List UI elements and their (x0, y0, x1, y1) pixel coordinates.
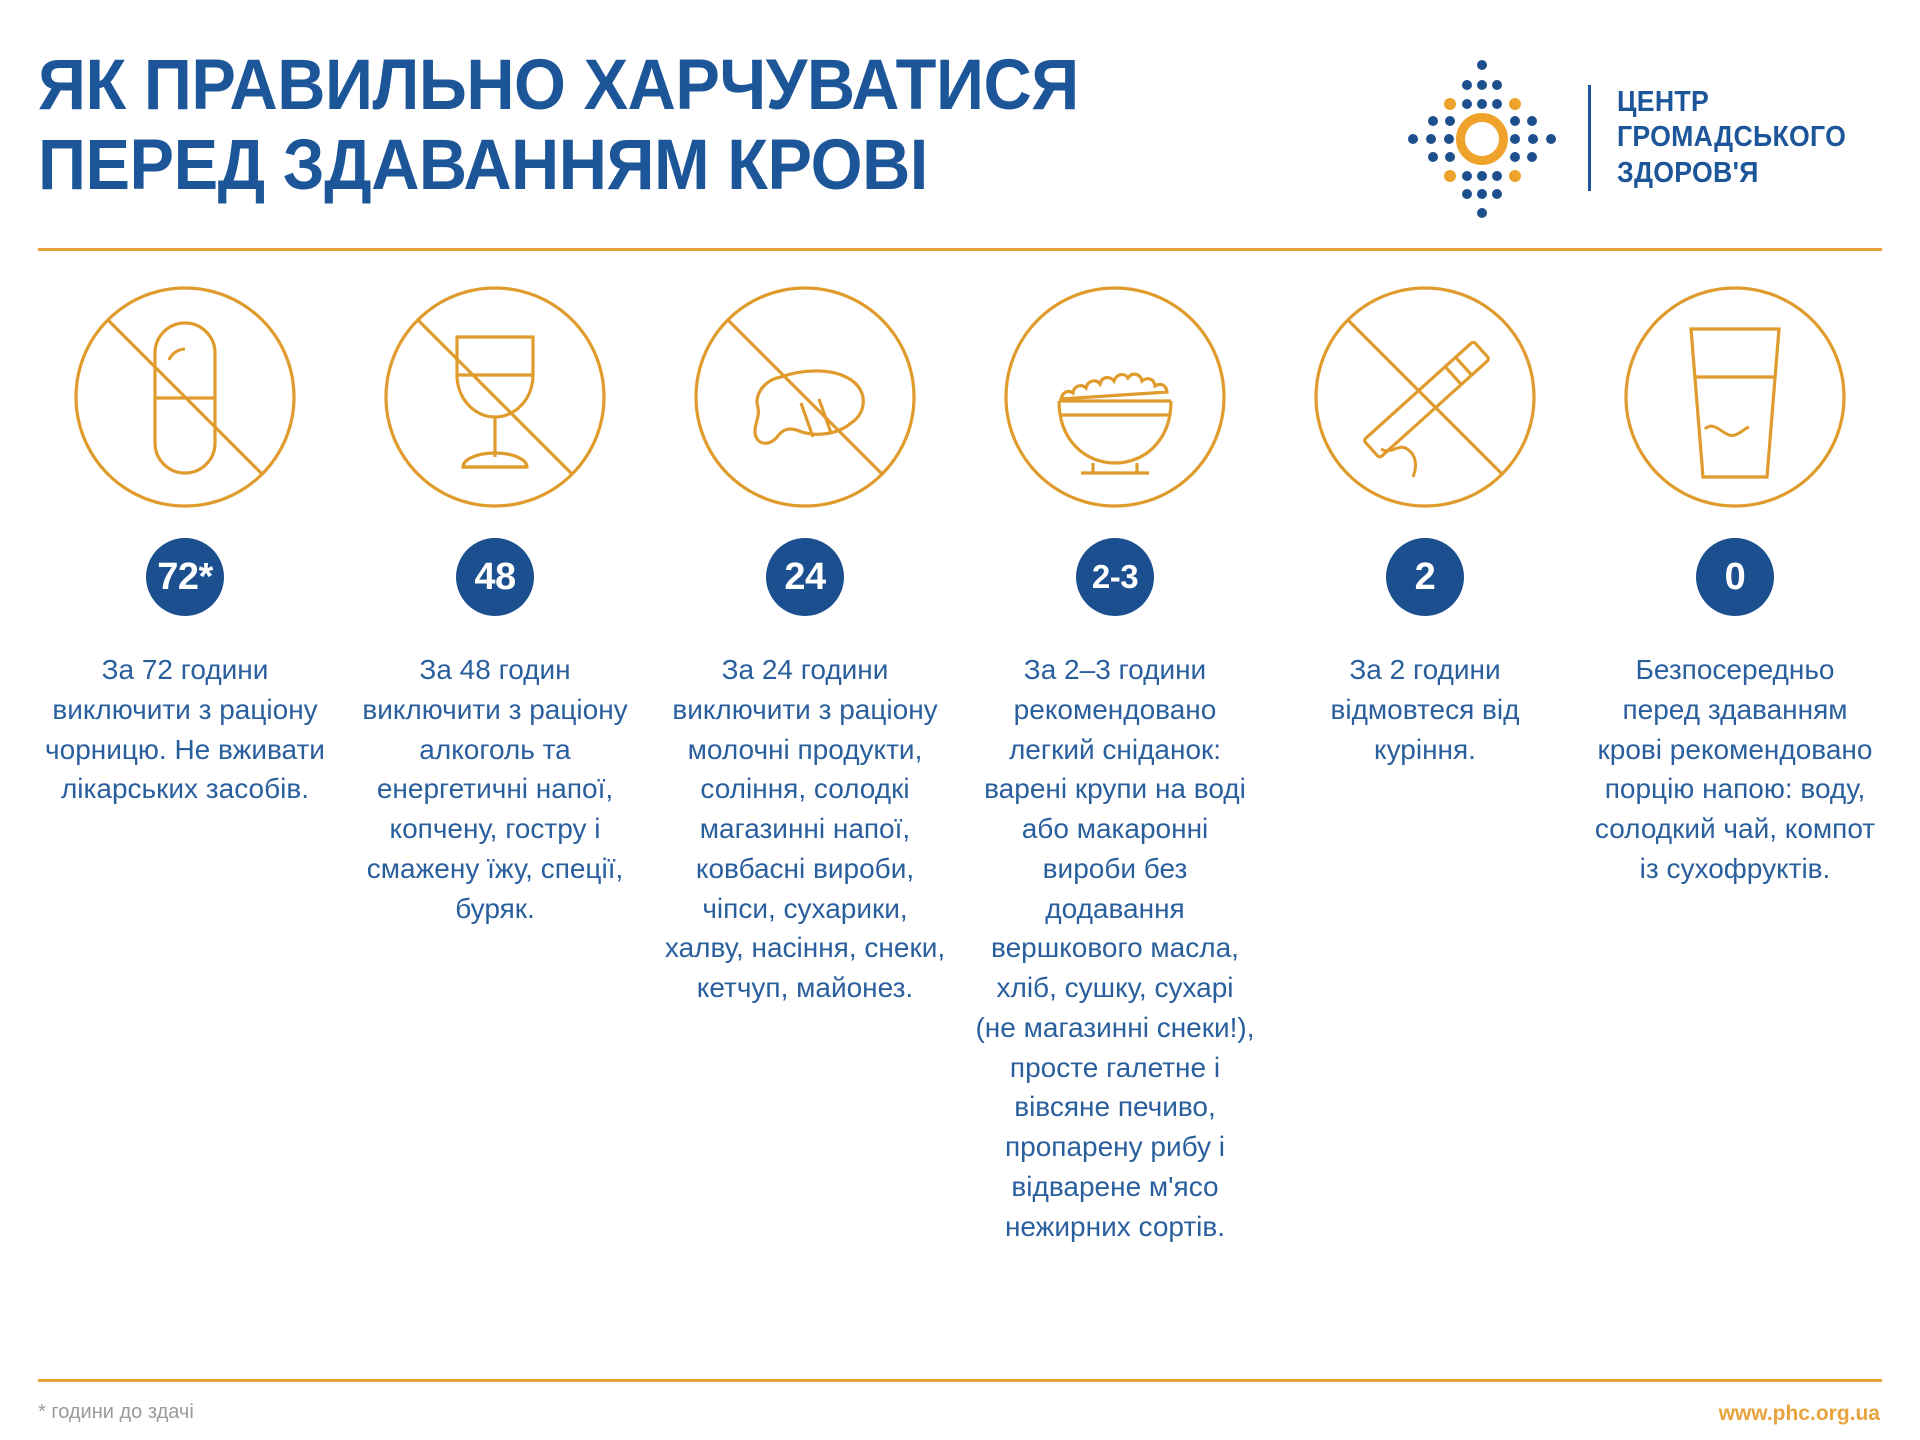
badge-hours-72: 72* (146, 538, 224, 616)
badge-hours-2: 2 (1386, 538, 1464, 616)
no-meat-icon (677, 272, 933, 522)
no-alcohol-glass-icon (367, 272, 623, 522)
badge-hours-0: 0 (1696, 538, 1774, 616)
badge-hours-48: 48 (456, 538, 534, 616)
page-title-line-2: ПЕРЕД ЗДАВАННЯМ КРОВІ (38, 126, 1079, 206)
phc-logo-mark-icon (1402, 58, 1562, 218)
water-glass-icon (1607, 272, 1863, 522)
column-5-text: За 2 години відмовтеся від куріння. (1284, 650, 1566, 769)
column-2-text: За 48 годин виключити з раціону алкоголь… (354, 650, 636, 928)
page-title-line-1: ЯК ПРАВИЛЬНО ХАРЧУВАТИСЯ (38, 46, 1079, 126)
column-4-text: За 2–3 години рекомендовано легкий сніда… (974, 650, 1256, 1246)
guidance-columns: 72* За 72 години виключити з раціону чор… (30, 272, 1890, 1246)
column-4: 2-3 За 2–3 години рекомендовано легкий с… (960, 272, 1270, 1246)
logo-divider (1588, 85, 1591, 191)
page-title: ЯК ПРАВИЛЬНО ХАРЧУВАТИСЯ ПЕРЕД ЗДАВАННЯМ… (38, 28, 1145, 205)
header-divider-rule (38, 248, 1882, 251)
page-header: ЯК ПРАВИЛЬНО ХАРЧУВАТИСЯ ПЕРЕД ЗДАВАННЯМ… (0, 0, 1920, 232)
column-5: 2 За 2 години відмовтеся від куріння. (1270, 272, 1580, 769)
column-2: 48 За 48 годин виключити з раціону алког… (340, 272, 650, 928)
website-url[interactable]: www.phc.org.ua (1719, 1402, 1880, 1426)
badge-hours-24: 24 (766, 538, 844, 616)
footnote: * години до здачі (38, 1401, 194, 1424)
logo-text-line-1: ЦЕНТР (1617, 85, 1846, 120)
porridge-bowl-icon (987, 272, 1243, 522)
no-pill-icon (57, 272, 313, 522)
column-1-text: За 72 години виключити з раціону чорницю… (44, 650, 326, 809)
column-3-text: За 24 години виключити з раціону молочні… (664, 650, 946, 1008)
no-smoking-icon (1297, 272, 1553, 522)
logo-text-line-2: ГРОМАДСЬКОГО (1617, 120, 1846, 155)
column-6: 0 Безпосередньо перед здаванням крові ре… (1580, 272, 1890, 889)
logo-text-line-3: ЗДОРОВ'Я (1617, 156, 1846, 191)
column-6-text: Безпосередньо перед здаванням крові реко… (1594, 650, 1876, 889)
footer-divider-rule (38, 1379, 1882, 1382)
badge-hours-2-3: 2-3 (1076, 538, 1154, 616)
logo-wordmark: ЦЕНТР ГРОМАДСЬКОГО ЗДОРОВ'Я (1617, 85, 1866, 191)
organization-logo: ЦЕНТР ГРОМАДСЬКОГО ЗДОРОВ'Я (1402, 28, 1876, 218)
column-3: 24 За 24 години виключити з раціону моло… (650, 272, 960, 1008)
column-1: 72* За 72 години виключити з раціону чор… (30, 272, 340, 809)
